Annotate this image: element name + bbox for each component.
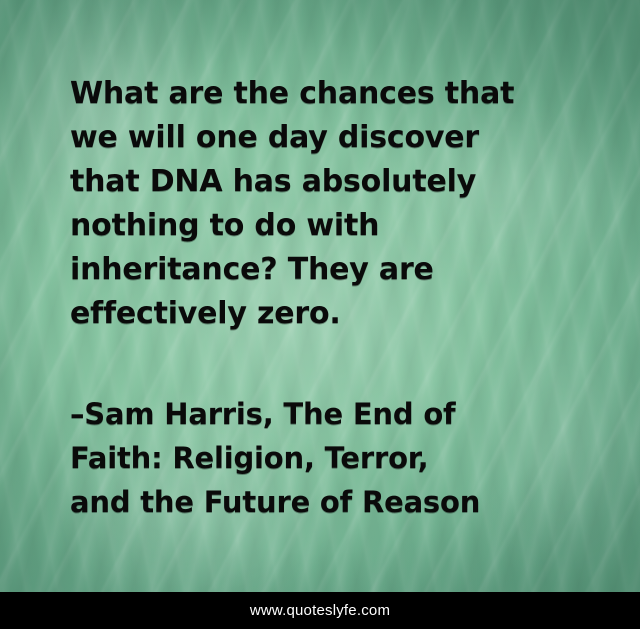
quote-content: What are the chances that we will one da… [70, 72, 586, 524]
attribution-line: –Sam Harris, The End of [70, 392, 586, 436]
attribution-line: Faith: Religion, Terror, [70, 436, 586, 480]
footer-bar: www.quoteslyfe.com [0, 592, 640, 629]
quote-line: What are the chances that [70, 72, 586, 116]
quote-line: we will one day discover [70, 116, 586, 160]
attribution-line: and the Future of Reason [70, 480, 586, 524]
quote-text-block: What are the chances that we will one da… [70, 72, 586, 336]
quote-line: nothing to do with [70, 204, 586, 248]
footer-website-url[interactable]: www.quoteslyfe.com [250, 602, 390, 619]
quote-line: that DNA has absolutely [70, 160, 586, 204]
quote-line: effectively zero. [70, 292, 586, 336]
quote-attribution-block: –Sam Harris, The End of Faith: Religion,… [70, 392, 586, 524]
quote-card: What are the chances that we will one da… [0, 0, 640, 629]
quote-line: inheritance? They are [70, 248, 586, 292]
